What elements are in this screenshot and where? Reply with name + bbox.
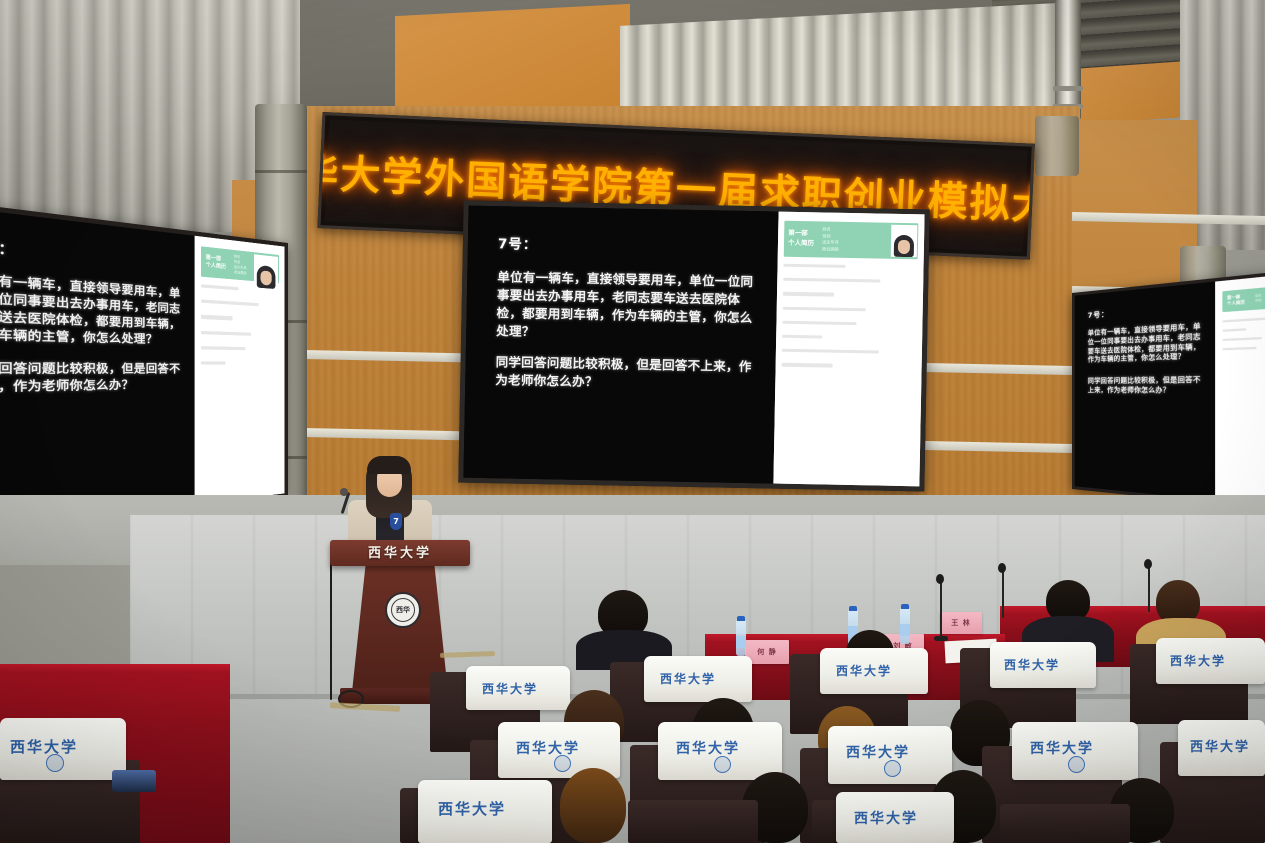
resume-header: 第一部 个人简历 姓名 性别 出生年月 政治面貌	[784, 221, 919, 260]
question-2: 同学回答问题比较积极，但是回答不上来，作为老师你怎么办？	[495, 353, 760, 394]
seat-cover-r1-2: 西华大学	[644, 656, 752, 702]
podium-top: 西华大学	[330, 540, 470, 566]
seat-cover-logo-3: 西华大学	[836, 662, 892, 679]
seat-cover-logo-11: 西华大学	[438, 798, 506, 819]
resume-avatar-left	[254, 254, 278, 289]
question-2-right: 同学回答问题比较积极，但是回答不上来，作为老师你怎么办？	[1088, 375, 1208, 395]
speaker-number-badge: 7	[390, 513, 402, 530]
resume-meta-1-right: 性别	[1255, 299, 1261, 304]
resume-header-right: 第一部 个人简历 姓名 性别	[1222, 285, 1265, 312]
seat-cover-foreground-left: 西华大学	[0, 718, 126, 780]
seat-cover-logo-5: 西华大学	[1170, 652, 1226, 669]
seat-cover-r2-4: 西华大学	[1012, 722, 1138, 780]
question-1-right: 单位有一辆车，直接领导要用车，单位一位同事要出去办事用车，老同志要车送去医院体检…	[1088, 321, 1208, 365]
contestant-number-left: 7号：	[0, 235, 184, 275]
name-card-1-text: 何 静	[757, 647, 776, 657]
column-right-upper	[1035, 116, 1079, 176]
podium-emblem-text: 西华	[391, 598, 415, 622]
resume-header-left: 第一部 个人简历 姓名 性别 出生年月 政治面貌	[201, 246, 279, 283]
resume-panel-left: 第一部 个人简历 姓名 性别 出生年月 政治面貌	[195, 236, 284, 504]
seat-cover-r3-1: 西华大学	[418, 780, 552, 843]
resume-panel: 第一部 个人简历 姓名 性别 出生年月 政治面貌	[773, 212, 924, 487]
resume-meta-2: 出生年月	[822, 239, 839, 246]
seat-cover-logo-1: 西华大学	[482, 680, 538, 697]
resume-title-2-left: 个人简历	[206, 262, 226, 272]
seat-cover-logo-4: 西华大学	[1004, 656, 1060, 673]
seat-r3-4	[1000, 804, 1130, 843]
slide-text-panel-left: 7号： 单位有一辆车，直接领导要用车，单位一位同事要出去办事用车，老同志要车送去…	[0, 205, 195, 534]
seat-r3-2	[628, 800, 758, 843]
auditorium-photo: 西华大学外国语学院第一届求职创业模拟大赛 7号： 单位有一辆车，直接领导要用车，…	[0, 0, 1265, 843]
seat-cover-logo-12: 西华大学	[854, 808, 918, 828]
question-2-left: 同学回答问题比较积极，但是回答不上来，作为老师你怎么办？	[0, 361, 184, 398]
resume-title-1: 第一部	[788, 229, 814, 239]
projection-screen-right: 7号： 单位有一辆车，直接领导要用车，单位一位同事要出去办事用车，老同志要车送去…	[1072, 269, 1265, 512]
bottle-cap-3	[901, 604, 909, 609]
resume-title-2: 个人简历	[788, 239, 814, 249]
metal-column	[1055, 0, 1081, 120]
seat-cover-r1-4: 西华大学	[990, 642, 1096, 688]
podium-cable	[330, 560, 332, 700]
resume-panel-right: 第一部 个人简历 姓名 性别	[1215, 273, 1265, 508]
seat-cover-logo-10: 西华大学	[1190, 736, 1250, 755]
seat-cover-logo-8: 西华大学	[846, 742, 910, 762]
question-1-left: 单位有一辆车，直接领导要用车，单位一位同事要出去办事用车，老同志要车送去医院体检…	[0, 271, 184, 349]
bottle-label-3	[900, 624, 910, 636]
seat-cover-r2-2: 西华大学	[658, 722, 782, 780]
resume-meta-3-left: 政治面貌	[234, 270, 246, 276]
podium-emblem: 西华	[385, 592, 421, 628]
bottle-cap-1	[737, 616, 745, 621]
slide-text-panel: 7号： 单位有一辆车，直接领导要用车，单位一位同事要出去办事用车，老同志要车送去…	[463, 206, 778, 484]
name-card-3: 王 林	[940, 612, 982, 634]
projection-screen-left: 7号： 单位有一辆车，直接领导要用车，单位一位同事要出去办事用车，老同志要车送去…	[0, 199, 288, 541]
resume-avatar	[891, 225, 918, 257]
judge-microphone-1-stand	[940, 582, 942, 638]
seat-cover-r1-5: 西华大学	[1156, 638, 1265, 684]
seat-cover-r1-3: 西华大学	[820, 648, 928, 694]
resume-meta-3: 政治面貌	[822, 246, 839, 253]
podium-microphone-head	[340, 488, 348, 496]
judge-table-left-top	[0, 664, 230, 674]
metal-column-ring	[1053, 86, 1083, 91]
seat-cover-logo-9: 西华大学	[1030, 738, 1094, 758]
judge-microphone-3-head	[1144, 559, 1152, 569]
seat-cover-logo-13: 西华大学	[10, 736, 78, 757]
resume-title-2-right: 个人简历	[1227, 300, 1245, 308]
seat-cover-r2-3: 西华大学	[828, 726, 952, 784]
judge-microphone-1-head	[936, 574, 944, 584]
name-card-3-text: 王 林	[951, 618, 970, 628]
speaker-fringe	[367, 456, 411, 474]
bottle-label-1	[736, 636, 746, 648]
podium-label: 西华大学	[330, 542, 470, 561]
contestant-number-right: 7号：	[1088, 301, 1208, 321]
contestant-number: 7号：	[498, 232, 762, 257]
seat-cover-r2-5: 西华大学	[1178, 720, 1265, 776]
judge-microphone-2-stand	[1002, 570, 1004, 618]
seat-cover-r1-1: 西华大学	[466, 666, 570, 710]
slide-text-panel-right: 7号： 单位有一辆车，直接领导要用车，单位一位同事要出去办事用车，老同志要车送去…	[1075, 282, 1215, 501]
question-1: 单位有一辆车，直接领导要用车，单位一位同事要出去办事用车，老同志要车送去医院体检…	[496, 268, 761, 346]
judge-table-right-top	[1000, 606, 1265, 615]
projection-screen-main: 7号： 单位有一辆车，直接领导要用车，单位一位同事要出去办事用车，老同志要车送去…	[458, 201, 929, 492]
audience-head-9	[560, 768, 626, 843]
seat-cover-logo-2: 西华大学	[660, 670, 716, 687]
judge-microphone-3-stand	[1148, 566, 1150, 612]
seat-cover-logo-7: 西华大学	[676, 738, 740, 758]
bottle-cap-2	[849, 606, 857, 611]
seat-cover-r3-3: 西华大学	[836, 792, 954, 843]
judge-microphone-2-head	[998, 563, 1006, 573]
phone-screen	[112, 770, 156, 792]
seat-cover-logo-6: 西华大学	[516, 738, 580, 758]
